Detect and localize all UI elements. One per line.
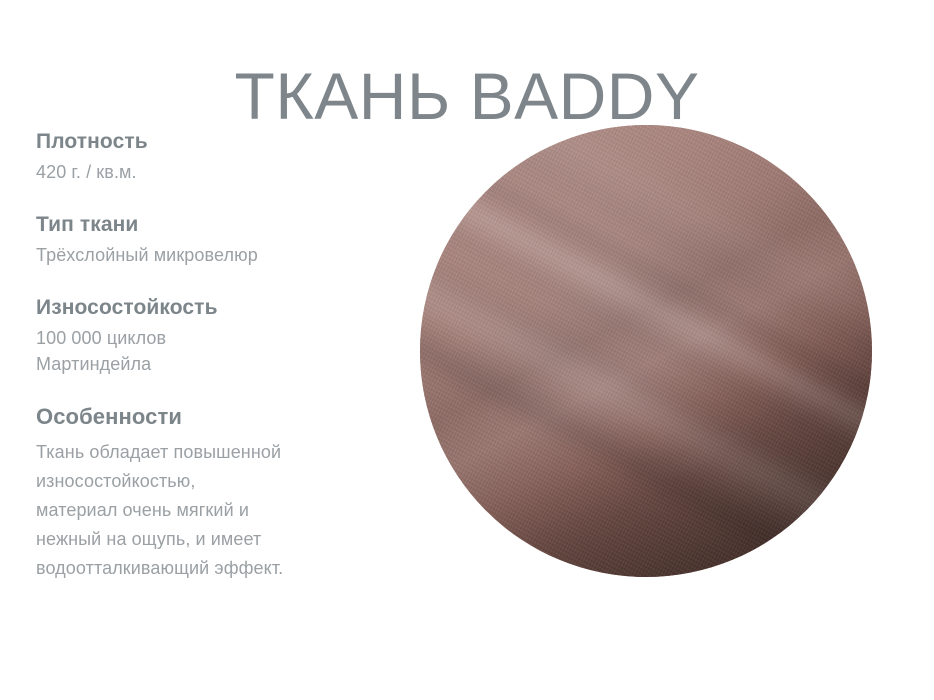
fabric-vignette (420, 125, 872, 577)
fabric-spec-slide: ТКАНЬ BADDY Плотность 420 г. / кв.м. Тип… (0, 0, 934, 700)
spec-value-durability: 100 000 циклов Мартиндейла (36, 325, 408, 377)
spec-term-features: Особенности (36, 403, 408, 431)
spec-item-density: Плотность 420 г. / кв.м. (36, 128, 408, 185)
spec-term-density: Плотность (36, 128, 408, 155)
spec-term-fabric-type: Тип ткани (36, 211, 408, 238)
spec-value-features: Ткань обладает повышенной износостойкост… (36, 438, 408, 583)
spec-item-features: Особенности Ткань обладает повышенной из… (36, 403, 408, 583)
spec-value-fabric-type: Трёхслойный микровелюр (36, 242, 408, 268)
spec-term-durability: Износостойкость (36, 294, 408, 321)
spec-item-fabric-type: Тип ткани Трёхслойный микровелюр (36, 211, 408, 268)
spec-value-density: 420 г. / кв.м. (36, 159, 408, 185)
spec-item-durability: Износостойкость 100 000 циклов Мартиндей… (36, 294, 408, 377)
spec-list: Плотность 420 г. / кв.м. Тип ткани Трёхс… (36, 128, 408, 583)
fabric-swatch-circle (420, 125, 872, 577)
